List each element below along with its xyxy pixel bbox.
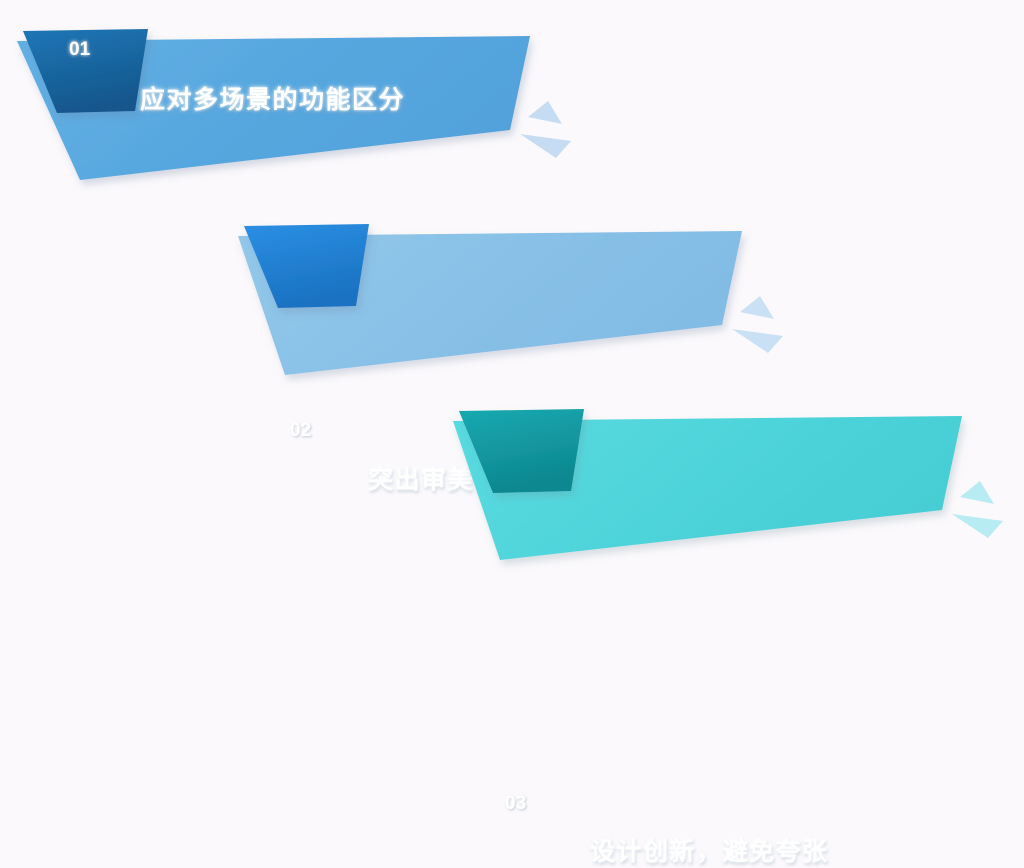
banner-item-3[interactable]: 03 设计创新，避免夸张 — [400, 380, 1024, 580]
banner-1-accent-triangle-wedge — [520, 134, 571, 158]
banner-3-accent-triangle-wedge — [952, 514, 1003, 538]
banner-3-accent-triangle-up — [960, 481, 994, 504]
banner-3-title: 设计创新，避免夸张 — [590, 832, 829, 868]
banner-2-graphic — [190, 195, 810, 395]
banner-2-number: 02 — [290, 420, 311, 442]
banner-3-number: 03 — [505, 793, 526, 815]
banner-2-accent-triangle-wedge — [732, 329, 783, 353]
banner-1-accent-triangle-up — [528, 101, 562, 124]
banner-2-accent-triangle-up — [740, 296, 774, 319]
banner-3-graphic — [400, 380, 1024, 580]
banner-item-2[interactable]: 02 突出审美，保证真实 — [190, 195, 810, 395]
slide-canvas: 01 应对多场景的功能区分 — [0, 0, 1024, 594]
banner-item-1[interactable]: 01 应对多场景的功能区分 — [0, 0, 600, 200]
banner-1-number: 01 — [69, 39, 90, 61]
banner-1-title: 应对多场景的功能区分 — [140, 80, 405, 116]
